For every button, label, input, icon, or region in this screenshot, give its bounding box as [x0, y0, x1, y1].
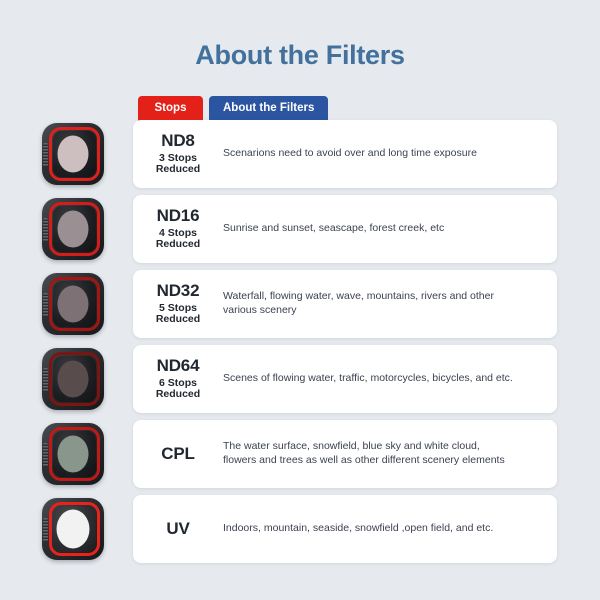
filter-stops: 5 Stops Reduced — [135, 303, 221, 327]
filter-lens — [58, 211, 89, 248]
page-title: About the Filters — [0, 40, 600, 71]
filter-stops-line2: Reduced — [135, 239, 221, 251]
filter-lens — [57, 510, 90, 549]
filter-stops: 6 Stops Reduced — [135, 378, 221, 402]
filter-description: Indoors, mountain, seaside, snowfield ,o… — [221, 522, 557, 536]
table-row: ND16 4 Stops Reduced Sunrise and sunset,… — [0, 195, 600, 263]
filter-notch — [43, 368, 48, 392]
filter-body — [42, 273, 104, 335]
filter-description-line1: Waterfall, flowing water, wave, mountain… — [223, 290, 543, 304]
filter-description: The water surface, snowfield, blue sky a… — [221, 440, 557, 468]
filter-lens — [58, 361, 89, 398]
filter-card: UV Indoors, mountain, seaside, snowfield… — [133, 495, 557, 563]
filter-description-line2: flowers and trees as well as other diffe… — [223, 454, 543, 468]
filter-description-line1: Scenarions need to avoid over and long t… — [223, 147, 543, 161]
filter-name: CPL — [135, 445, 221, 464]
filter-label: ND8 3 Stops Reduced — [133, 132, 221, 176]
filters-info-page: About the Filters Stops About the Filter… — [0, 0, 600, 600]
filter-label: UV — [133, 520, 221, 539]
table-header-tabs: Stops About the Filters — [138, 96, 328, 121]
filter-notch — [43, 293, 48, 317]
filter-description: Scenarions need to avoid over and long t… — [221, 147, 557, 161]
filter-notch — [43, 218, 48, 242]
filter-description-line1: Indoors, mountain, seaside, snowfield ,o… — [223, 522, 543, 536]
filter-body — [42, 423, 104, 485]
filter-stops-line2: Reduced — [135, 314, 221, 326]
filter-card: CPL The water surface, snowfield, blue s… — [133, 420, 557, 488]
table-row: UV Indoors, mountain, seaside, snowfield… — [0, 495, 600, 563]
filter-stops: 3 Stops Reduced — [135, 153, 221, 177]
filter-description: Scenes of flowing water, traffic, motorc… — [221, 372, 557, 386]
table-row: CPL The water surface, snowfield, blue s… — [0, 420, 600, 488]
filter-card: ND8 3 Stops Reduced Scenarions need to a… — [133, 120, 557, 188]
table-row: ND64 6 Stops Reduced Scenes of flowing w… — [0, 345, 600, 413]
filter-notch — [43, 518, 48, 542]
filter-body — [42, 498, 104, 560]
filter-name: ND16 — [135, 207, 221, 226]
filter-lens — [58, 136, 89, 173]
filter-description: Waterfall, flowing water, wave, mountain… — [221, 290, 557, 318]
uv-filter-icon — [42, 498, 104, 560]
nd8-filter-icon — [42, 123, 104, 185]
filter-card: ND64 6 Stops Reduced Scenes of flowing w… — [133, 345, 557, 413]
filter-label: ND64 6 Stops Reduced — [133, 357, 221, 401]
filter-name: ND8 — [135, 132, 221, 151]
filter-description: Sunrise and sunset, seascape, forest cre… — [221, 222, 557, 236]
filter-body — [42, 123, 104, 185]
filter-lens — [58, 286, 89, 323]
tab-about-the-filters[interactable]: About the Filters — [209, 96, 328, 121]
tab-stops[interactable]: Stops — [138, 96, 203, 121]
filter-lens — [58, 436, 89, 473]
table-row: ND32 5 Stops Reduced Waterfall, flowing … — [0, 270, 600, 338]
filter-name: ND32 — [135, 282, 221, 301]
nd64-filter-icon — [42, 348, 104, 410]
filter-name: ND64 — [135, 357, 221, 376]
filter-label: ND32 5 Stops Reduced — [133, 282, 221, 326]
filter-description-line1: The water surface, snowfield, blue sky a… — [223, 440, 543, 454]
filter-description-line1: Scenes of flowing water, traffic, motorc… — [223, 372, 543, 386]
cpl-filter-icon — [42, 423, 104, 485]
nd32-filter-icon — [42, 273, 104, 335]
filter-rows: ND8 3 Stops Reduced Scenarions need to a… — [0, 120, 600, 563]
filter-label: ND16 4 Stops Reduced — [133, 207, 221, 251]
filter-notch — [43, 443, 48, 467]
filter-description-line2: various scenery — [223, 304, 543, 318]
filter-stops-line2: Reduced — [135, 389, 221, 401]
filter-card: ND16 4 Stops Reduced Sunrise and sunset,… — [133, 195, 557, 263]
filter-card: ND32 5 Stops Reduced Waterfall, flowing … — [133, 270, 557, 338]
filter-stops-line2: Reduced — [135, 164, 221, 176]
table-row: ND8 3 Stops Reduced Scenarions need to a… — [0, 120, 600, 188]
filter-notch — [43, 143, 48, 167]
filter-description-line1: Sunrise and sunset, seascape, forest cre… — [223, 222, 543, 236]
filter-name: UV — [135, 520, 221, 539]
filter-body — [42, 198, 104, 260]
filter-stops: 4 Stops Reduced — [135, 228, 221, 252]
filter-body — [42, 348, 104, 410]
filter-label: CPL — [133, 445, 221, 464]
nd16-filter-icon — [42, 198, 104, 260]
